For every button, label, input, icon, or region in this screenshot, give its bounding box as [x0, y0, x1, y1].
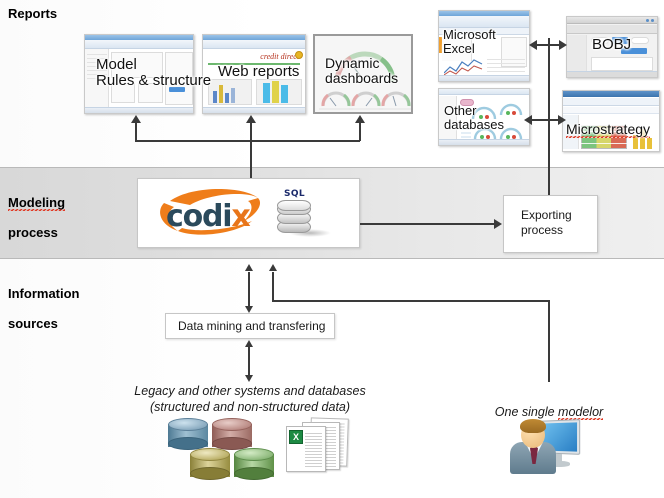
modelor-icon [500, 412, 582, 480]
bobj-left-pane [567, 35, 587, 71]
database-cylinder-olive [190, 448, 230, 480]
database-cylinder-green [234, 448, 274, 480]
excel-row-line [487, 67, 525, 68]
codix-wordmark-text: codi [166, 199, 231, 234]
arrowhead-to-bobj [559, 40, 567, 50]
web-reports-bar [225, 93, 229, 103]
arrowhead-legacy-down [245, 375, 253, 382]
model-right-pane [165, 52, 193, 105]
codix-logo: codix [152, 187, 270, 241]
diagram-canvas: Reports Modeling process Information sou… [0, 0, 664, 498]
arrowhead-to-web-reports [246, 115, 256, 123]
arrowhead-datamining-up [245, 264, 253, 271]
arrowhead-to-microstrategy [558, 115, 566, 125]
connector-modelor-horizontal [272, 300, 550, 302]
bobj-result-grid [591, 57, 653, 71]
web-reports-bar [219, 85, 223, 103]
model-row-line [87, 58, 107, 59]
excel-orange-tab [439, 37, 442, 53]
web-reports-bar [231, 88, 235, 103]
band-label-information-word1: Information [8, 286, 80, 301]
excel-row-line [487, 71, 525, 72]
codix-wordmark-accent: x [231, 199, 249, 234]
excel-line-chart [444, 57, 484, 77]
arrowhead-legacy-up [245, 340, 253, 347]
model-row-line [87, 66, 107, 67]
db-blue-top [168, 418, 208, 431]
bobj-toolbar [567, 25, 657, 34]
db-green-top [234, 448, 274, 461]
connector-codix-to-exporting [360, 223, 494, 225]
otherdb-statusbar [439, 139, 529, 145]
web-reports-bar [263, 83, 270, 103]
excel-row-line [487, 63, 525, 64]
bobj-titlebar [567, 17, 657, 24]
codix-wordmark: codix [166, 199, 250, 234]
arrowhead-to-exporting [494, 219, 502, 229]
connector-riser-model [135, 123, 137, 141]
model-action-button[interactable] [169, 87, 185, 92]
arrowhead-to-model [131, 115, 141, 123]
sql-label: SQL [284, 189, 305, 199]
model-row-line [87, 74, 107, 75]
bobj-window-control[interactable] [651, 19, 654, 22]
bobj-window-control[interactable] [646, 19, 649, 22]
codix-platform-box[interactable]: codix SQL [137, 178, 360, 248]
web-reports-statusbar [203, 107, 305, 113]
model-lower-left-pane [111, 83, 135, 103]
web-reports-bar [272, 81, 279, 103]
bobj-selected-pill[interactable] [612, 37, 628, 44]
model-row-line [87, 78, 107, 79]
document-front-lines [305, 433, 322, 467]
connector-riser-web-reports [250, 123, 252, 141]
data-mining-label: Data mining and transfering [178, 319, 325, 334]
excel-statusbar [439, 75, 529, 81]
web-reports-green-rule [208, 63, 300, 65]
band-label-reports: Reports [8, 6, 57, 21]
arrowhead-datamining-down [245, 306, 253, 313]
band-label-information-word2: sources [8, 316, 58, 331]
connector-export-spine [548, 38, 550, 196]
bobj-pill [631, 37, 649, 44]
model-toolbar [85, 40, 193, 49]
model-row-line [87, 70, 107, 71]
arrowhead-to-dynamic-dashboards [355, 115, 365, 123]
sql-database-icon: SQL [275, 191, 317, 241]
connector-legacy-to-datamining [248, 347, 250, 375]
web-reports-bar [213, 91, 217, 103]
thumbnail-web-reports[interactable]: credit direct [202, 34, 306, 114]
dashboard-gauges [315, 36, 413, 114]
bobj-pill [591, 37, 609, 44]
bobj-highlight-bar [621, 48, 647, 54]
legacy-systems-caption: Legacy and other systems and databases (… [132, 383, 368, 416]
arrowhead-to-excel [529, 40, 537, 50]
thumbnail-microsoft-excel[interactable] [438, 10, 530, 82]
connector-riser-dynamic-dashboards [359, 123, 361, 141]
db-olive-bottom [190, 467, 230, 480]
connector-codix-to-reports-stem [250, 140, 252, 178]
database-cylinder-brown [212, 418, 252, 450]
mstr-heatmap-grid [581, 125, 627, 149]
web-reports-brand-mark [295, 51, 303, 59]
db-green-bottom [234, 467, 274, 480]
mstr-toolbar2 [563, 107, 659, 114]
excel-row-line [487, 59, 525, 60]
person-hair [520, 419, 546, 433]
mstr-titlebar [563, 91, 659, 97]
sql-cylinder-top [277, 200, 311, 211]
database-cylinder-blue [168, 418, 208, 450]
mstr-bar [633, 135, 638, 149]
connector-datamining-to-codix [248, 272, 250, 306]
connector-reports-bus [135, 140, 360, 142]
exporting-process-label: Exporting process [521, 208, 572, 238]
web-reports-bar [281, 85, 288, 103]
excel-document-badge [289, 430, 303, 444]
db-olive-top [190, 448, 230, 461]
connector-modelor-riser [548, 300, 550, 382]
arrowhead-to-other-databases [524, 115, 532, 125]
thumbnail-bobj[interactable] [566, 16, 658, 78]
arrowhead-modelor-to-codix [269, 264, 277, 271]
mstr-bar [640, 129, 645, 149]
connector-modelor-to-codix [272, 272, 274, 301]
model-row-line [87, 62, 107, 63]
excel-ribbon [439, 16, 529, 28]
otherdb-gauges [439, 89, 530, 146]
thumbnail-dynamic-dashboards[interactable] [313, 34, 413, 114]
thumbnail-microstrategy[interactable] [562, 90, 660, 152]
model-statusbar [85, 107, 193, 113]
web-reports-brand: credit direct [260, 52, 299, 61]
model-row-line [87, 54, 107, 55]
documents-icon [286, 418, 352, 474]
thumbnail-model[interactable] [84, 34, 194, 114]
mstr-toolbar [563, 98, 659, 106]
excel-ribbon-row [439, 28, 529, 35]
mstr-bar [647, 138, 652, 149]
band-label-modeling-word2: process [8, 225, 58, 240]
web-reports-toolbar [203, 40, 305, 49]
legacy-database-cluster [168, 418, 278, 480]
bobj-statusbar [567, 71, 657, 77]
band-label-modeling-word1: Modeling [8, 195, 65, 211]
band-label-information: Information sources [8, 271, 80, 331]
db-brown-top [212, 418, 252, 431]
model-center-pane [111, 52, 163, 78]
thumbnail-other-databases[interactable] [438, 88, 530, 146]
band-label-modeling: Modeling process [8, 180, 65, 240]
model-lower-right-pane [138, 83, 163, 103]
